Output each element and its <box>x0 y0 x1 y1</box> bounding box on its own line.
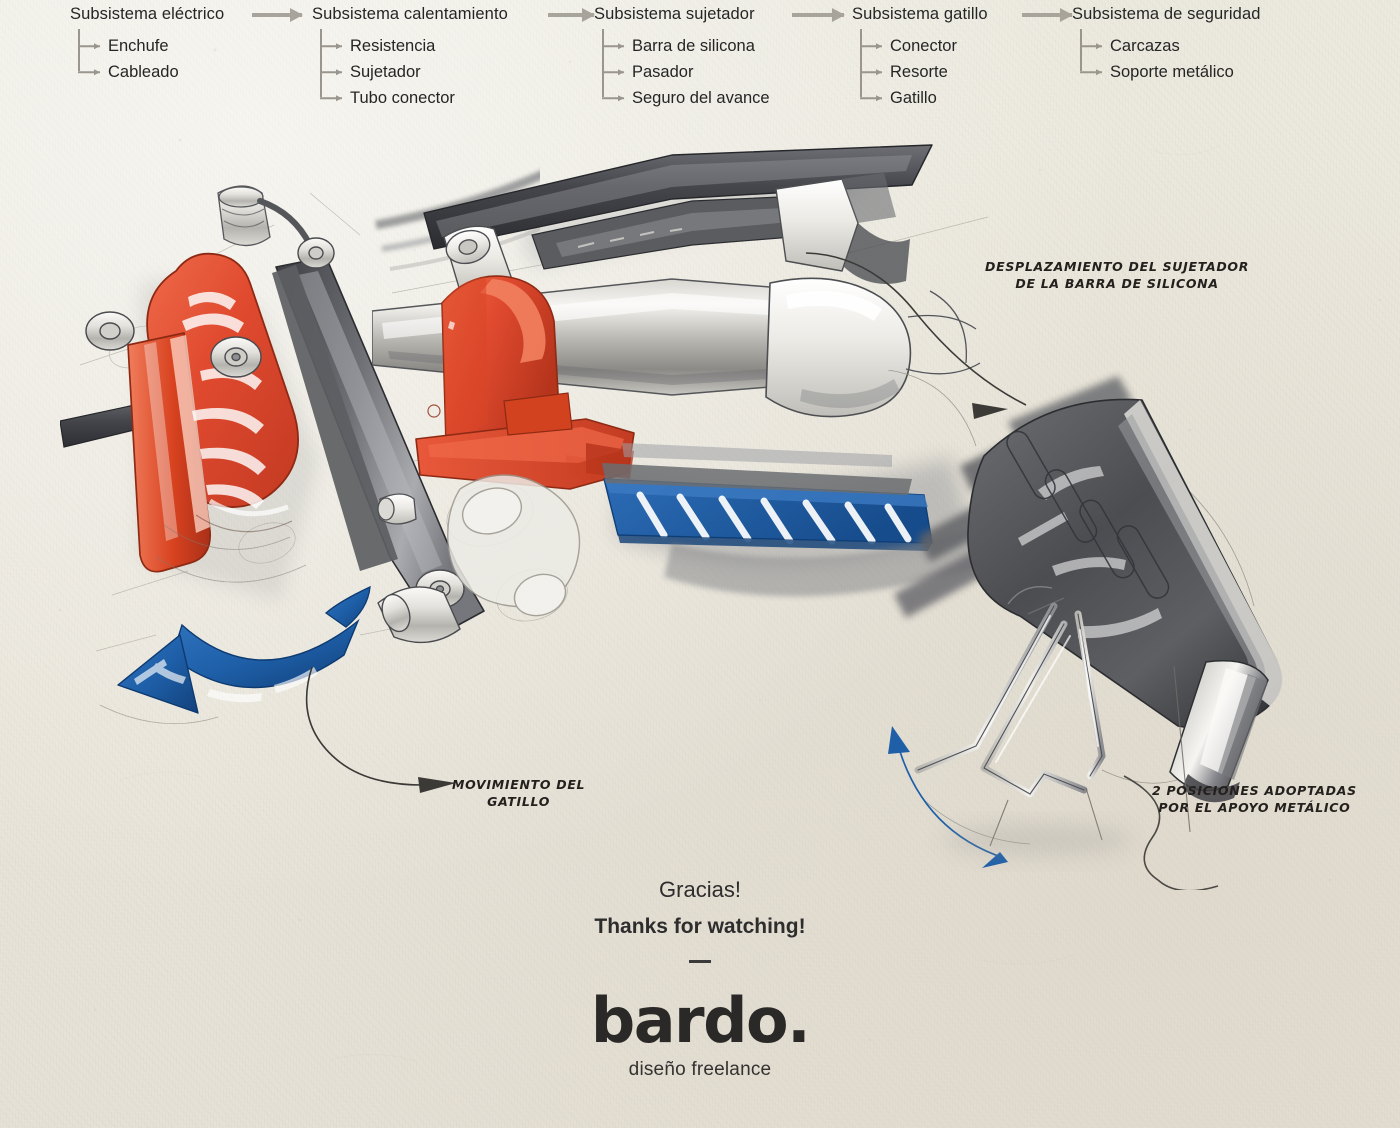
component-label: Resorte <box>890 62 948 82</box>
tree-branch-arrow-icon <box>1080 71 1102 73</box>
tree-branch-arrow-icon <box>860 97 882 99</box>
bardo-logo-wordmark: bardo. <box>0 989 1400 1053</box>
subsystem-component-item: Seguro del avance <box>602 85 770 111</box>
subsystem-component-item: Resorte <box>860 59 988 85</box>
subsystem-component-item: Pasador <box>602 59 770 85</box>
subsystem-component-item: Gatillo <box>860 85 988 111</box>
tree-branch-arrow-icon <box>860 45 882 47</box>
subsystem-column: Subsistema calentamientoResistenciaSujet… <box>312 4 508 111</box>
component-label: Carcazas <box>1110 36 1180 56</box>
flow-arrow-icon <box>1022 13 1072 17</box>
tree-branch-arrow-icon <box>78 71 100 73</box>
tree-branch-arrow-icon <box>1080 45 1102 47</box>
subsystem-component-item: Enchufe <box>78 33 224 59</box>
component-label: Seguro del avance <box>632 88 770 108</box>
callout-line: gatillo <box>452 793 585 810</box>
thanks-english: Thanks for watching! <box>0 912 1400 942</box>
tree-branch-arrow-icon <box>78 45 100 47</box>
tree-branch-arrow-icon <box>320 97 342 99</box>
component-label: Resistencia <box>350 36 435 56</box>
subsystem-component-item: Soporte metálico <box>1080 59 1261 85</box>
subsystem-breakdown-diagram: Subsistema eléctricoEnchufeCableadoSubsi… <box>0 0 1400 135</box>
footer-divider <box>689 960 711 963</box>
subsystem-component-item: Resistencia <box>320 33 508 59</box>
tree-branch-arrow-icon <box>602 97 624 99</box>
subsystem-column: Subsistema eléctricoEnchufeCableado <box>70 4 224 85</box>
callout-line: 2 posiciones adoptadas <box>1152 782 1357 799</box>
subsystem-component-item: Tubo conector <box>320 85 508 111</box>
subsystem-component-item: Cableado <box>78 59 224 85</box>
component-label: Pasador <box>632 62 693 82</box>
flow-arrow-icon <box>792 13 844 17</box>
component-label: Sujetador <box>350 62 421 82</box>
callout-line: por el apoyo metálico <box>1152 799 1357 816</box>
subsystem-column: Subsistema gatilloConectorResorteGatillo <box>852 4 988 111</box>
subsystem-component-item: Sujetador <box>320 59 508 85</box>
tree-branch-arrow-icon <box>320 71 342 73</box>
callout-line: de la barra de silicona <box>985 275 1249 292</box>
tree-branch-arrow-icon <box>602 45 624 47</box>
flow-arrow-icon <box>252 13 302 17</box>
component-label: Soporte metálico <box>1110 62 1234 82</box>
subsystem-component-list: ConectorResorteGatillo <box>852 33 988 111</box>
component-label: Gatillo <box>890 88 937 108</box>
subsystem-component-item: Barra de silicona <box>602 33 770 59</box>
subsystem-component-list: CarcazasSoporte metálico <box>1072 33 1261 85</box>
component-label: Conector <box>890 36 957 56</box>
subsystem-column: Subsistema sujetadorBarra de siliconaPas… <box>594 4 770 111</box>
subsystem-component-item: Conector <box>860 33 988 59</box>
bardo-logo-tagline: diseño freelance <box>0 1059 1400 1081</box>
tree-branch-arrow-icon <box>602 71 624 73</box>
component-label: Tubo conector <box>350 88 455 108</box>
subsystem-title: Subsistema calentamiento <box>312 4 508 24</box>
subsystem-component-list: ResistenciaSujetadorTubo conector <box>312 33 508 111</box>
tree-branch-arrow-icon <box>860 71 882 73</box>
component-label: Barra de silicona <box>632 36 755 56</box>
footer-credits: Gracias! Thanks for watching! bardo. dis… <box>0 875 1400 1081</box>
component-label: Enchufe <box>108 36 169 56</box>
subsystem-component-item: Carcazas <box>1080 33 1261 59</box>
callout-movimiento-gatillo: Movimiento delgatillo <box>452 776 585 810</box>
subsystem-title: Subsistema de seguridad <box>1072 4 1261 24</box>
callout-line: Movimiento del <box>452 776 585 793</box>
subsystem-title: Subsistema eléctrico <box>70 4 224 24</box>
callout-line: Desplazamiento del sujetador <box>985 258 1249 275</box>
callout-posiciones-apoyo: 2 posiciones adoptadaspor el apoyo metál… <box>1152 782 1357 816</box>
subsystem-title: Subsistema sujetador <box>594 4 770 24</box>
callout-desplazamiento: Desplazamiento del sujetadorde la barra … <box>985 258 1249 292</box>
thanks-spanish: Gracias! <box>0 875 1400 905</box>
tree-branch-arrow-icon <box>320 45 342 47</box>
subsystem-component-list: EnchufeCableado <box>70 33 224 85</box>
concept-sketch-stage <box>0 135 1400 860</box>
flow-arrow-icon <box>548 13 594 17</box>
subsystem-component-list: Barra de siliconaPasadorSeguro del avanc… <box>594 33 770 111</box>
subsystem-title: Subsistema gatillo <box>852 4 988 24</box>
subsystem-column: Subsistema de seguridadCarcazasSoporte m… <box>1072 4 1261 85</box>
component-label: Cableado <box>108 62 179 82</box>
leader-line-desplazamiento <box>560 235 1040 445</box>
